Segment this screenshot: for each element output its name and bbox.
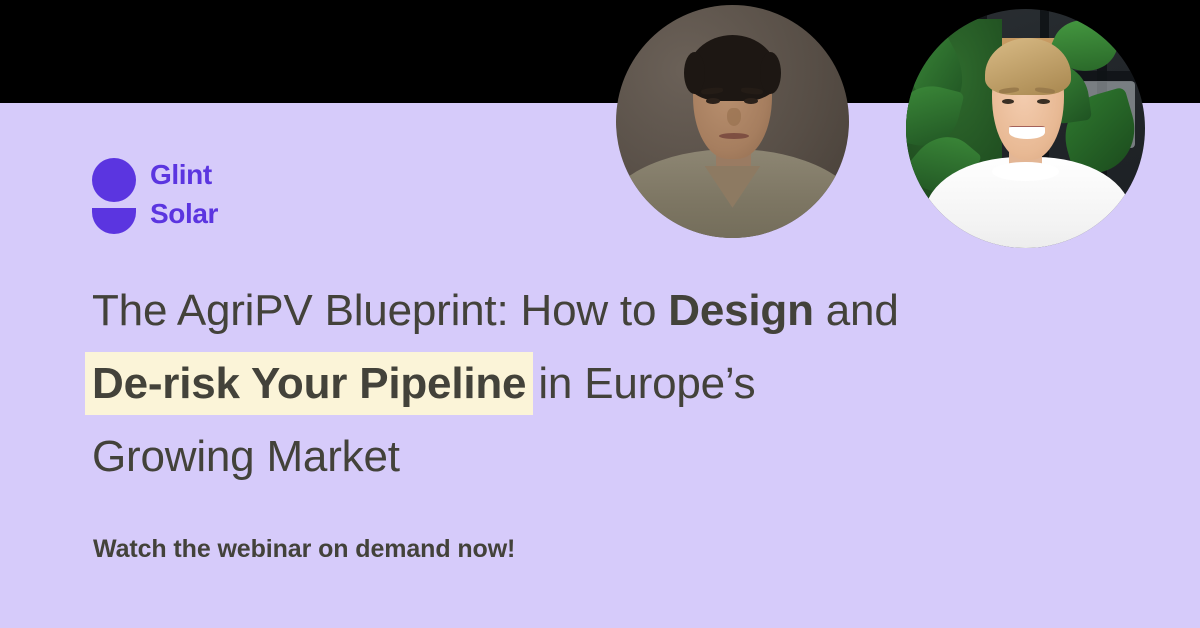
half-circle-shape-icon bbox=[92, 208, 136, 234]
brand-wordmark: Glint Solar bbox=[150, 155, 218, 233]
promo-banner: Glint Solar The AgriPV Blueprint: How to… bbox=[0, 0, 1200, 628]
speaker-photo-2 bbox=[906, 9, 1145, 248]
glint-solar-mark-icon bbox=[92, 158, 136, 233]
brand-logo[interactable]: Glint Solar bbox=[88, 155, 258, 237]
headline-segment-regular-2: and bbox=[814, 286, 899, 335]
speaker-photo-2-image bbox=[906, 9, 1145, 248]
brand-wordmark-line-2: Solar bbox=[150, 194, 218, 233]
speaker-photo-1-image bbox=[616, 5, 849, 238]
headline-segment-bold-design: Design bbox=[668, 286, 814, 335]
headline: The AgriPV Blueprint: How to Design and … bbox=[92, 274, 1022, 493]
circle-shape-icon bbox=[92, 158, 136, 202]
brand-wordmark-line-1: Glint bbox=[150, 155, 218, 194]
headline-highlighted-phrase: De-risk Your Pipeline bbox=[92, 359, 526, 408]
speaker-photo-1 bbox=[616, 5, 849, 238]
headline-segment-regular-1: The AgriPV Blueprint: How to bbox=[92, 286, 668, 335]
cta-text: Watch the webinar on demand now! bbox=[93, 535, 515, 564]
